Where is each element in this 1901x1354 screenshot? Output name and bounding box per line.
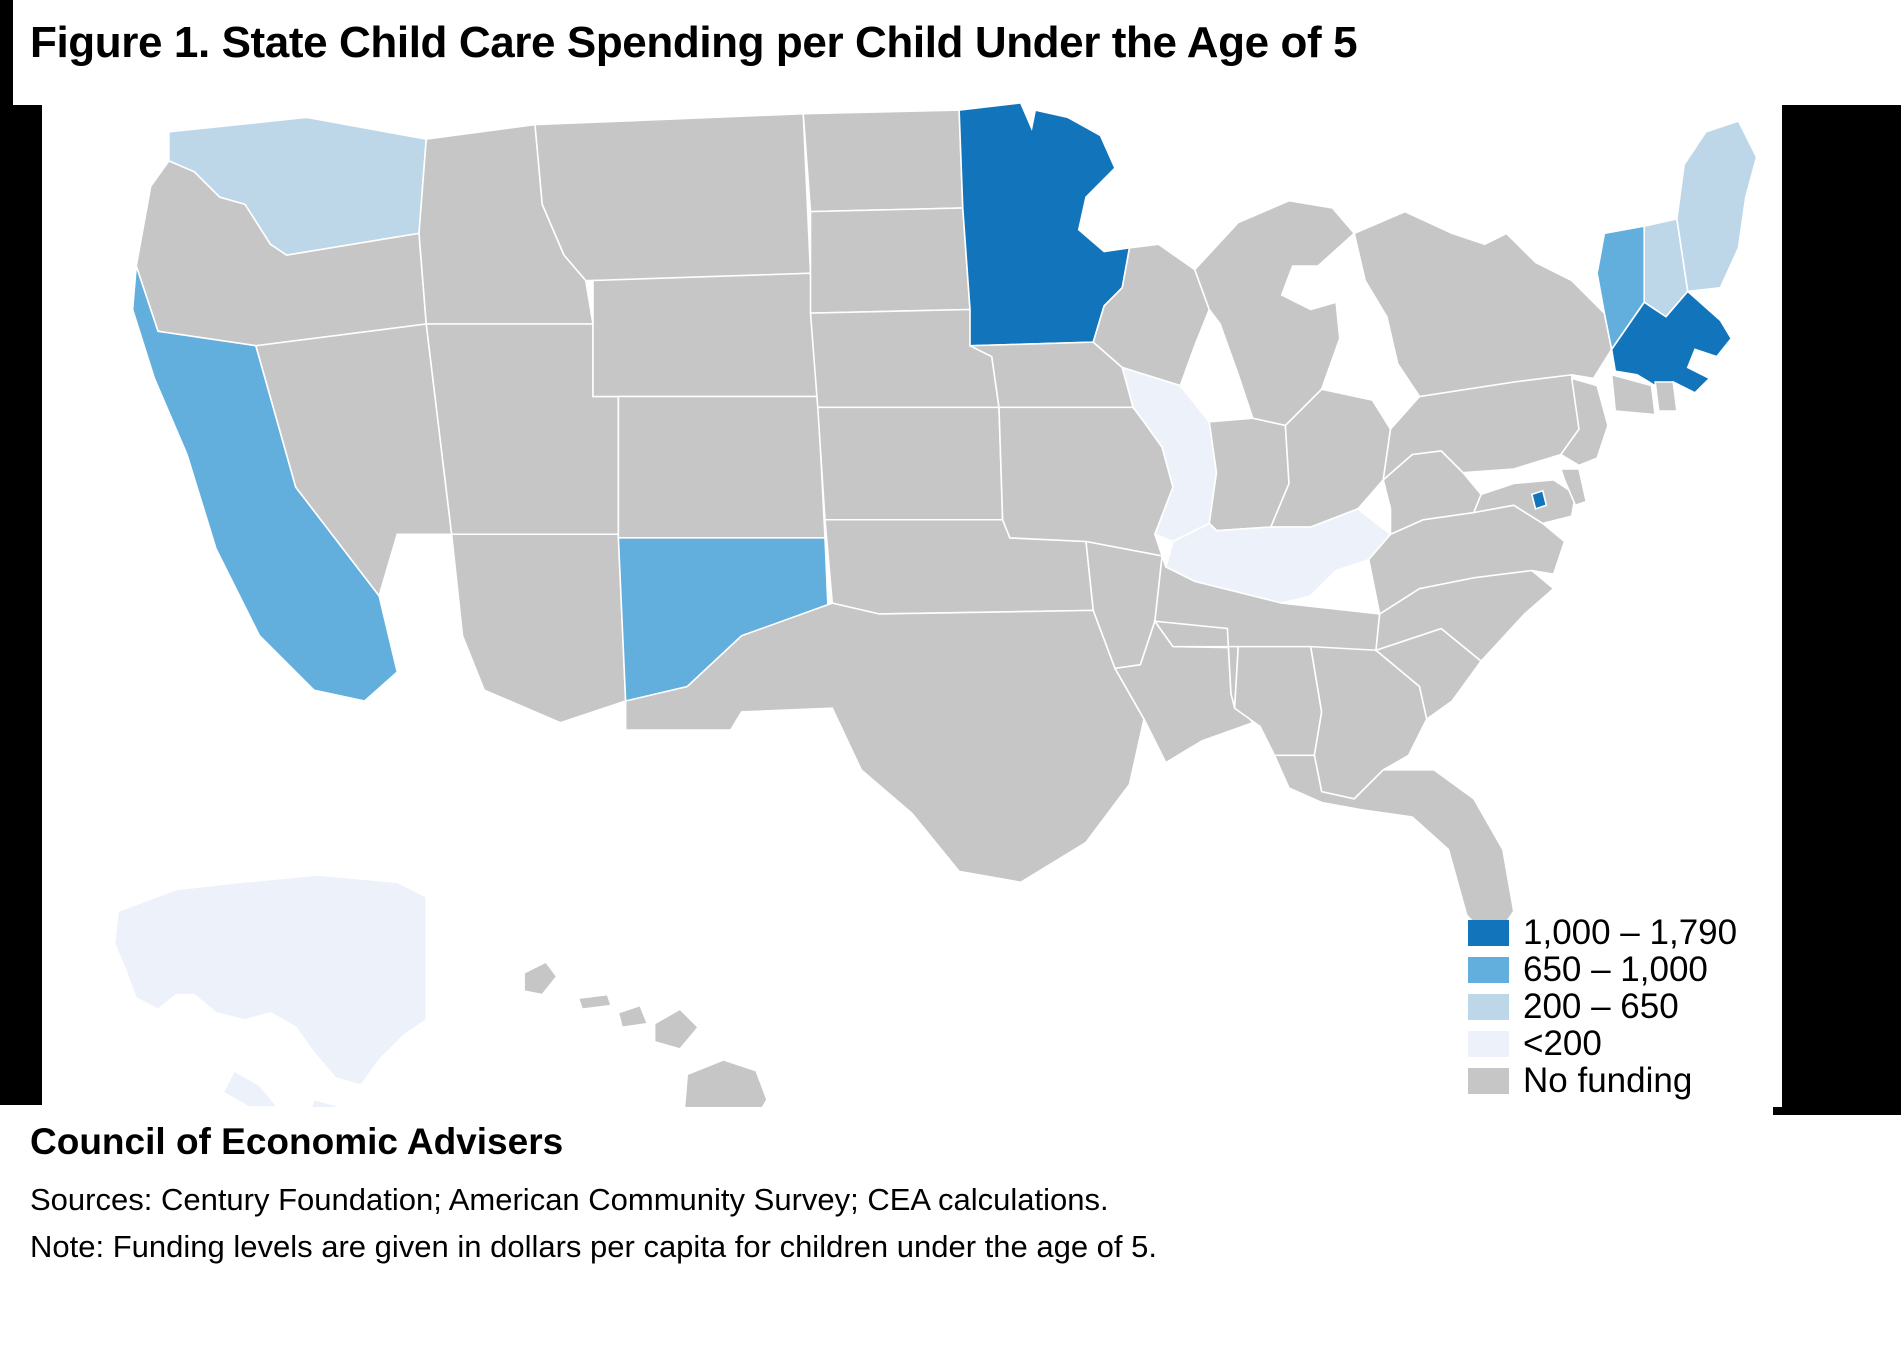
state-ME[interactable]	[1677, 121, 1757, 291]
state-NY[interactable]	[1354, 212, 1611, 397]
state-KS[interactable]	[818, 407, 1003, 519]
frame-bar-right	[1773, 105, 1901, 1115]
frame-bar-left	[0, 105, 42, 1105]
legend-item[interactable]: 650 – 1,000	[1468, 951, 1768, 988]
legend-label-tier1: 1,000 – 1,790	[1523, 915, 1737, 951]
legend-swatch-tier2	[1468, 957, 1509, 983]
legend-item[interactable]: No funding	[1468, 1062, 1768, 1099]
sources-line: Sources: Century Foundation; American Co…	[30, 1176, 1730, 1223]
map-legend: 1,000 – 1,790 650 – 1,000 200 – 650 <200…	[1468, 914, 1768, 1099]
state-SD[interactable]	[811, 208, 971, 313]
legend-swatch-tier3	[1468, 994, 1509, 1020]
state-RI[interactable]	[1655, 382, 1677, 411]
state-MO[interactable]	[999, 407, 1173, 556]
legend-swatch-nofunding	[1468, 1068, 1509, 1094]
legend-label-tier2: 650 – 1,000	[1523, 952, 1708, 988]
figure-page: Figure 1. State Child Care Spending per …	[0, 0, 1901, 1354]
frame-bar-left-top	[0, 0, 13, 105]
source-organization: Council of Economic Advisers	[30, 1118, 1730, 1166]
legend-item[interactable]: <200	[1468, 1025, 1768, 1062]
state-MT[interactable]	[535, 114, 811, 281]
state-WY[interactable]	[593, 273, 818, 396]
choropleth-map: 1,000 – 1,790 650 – 1,000 200 – 650 <200…	[42, 92, 1782, 1107]
legend-swatch-tier1	[1468, 920, 1509, 946]
legend-label-tier4: <200	[1523, 1026, 1602, 1062]
state-HI[interactable]	[524, 962, 767, 1107]
state-AZ[interactable]	[452, 534, 626, 723]
state-DC[interactable]	[1532, 491, 1547, 509]
state-AK[interactable]	[115, 875, 427, 1107]
legend-label-tier3: 200 – 650	[1523, 989, 1679, 1025]
legend-swatch-tier4	[1468, 1031, 1509, 1057]
state-CO[interactable]	[618, 397, 825, 538]
note-line: Note: Funding levels are given in dollar…	[30, 1223, 1730, 1270]
state-ND[interactable]	[803, 110, 963, 212]
state-UT[interactable]	[426, 324, 618, 534]
legend-label-nofunding: No funding	[1523, 1063, 1692, 1099]
state-AL[interactable]	[1235, 647, 1322, 756]
legend-item[interactable]: 1,000 – 1,790	[1468, 914, 1768, 951]
legend-item[interactable]: 200 – 650	[1468, 988, 1768, 1025]
figure-title: Figure 1. State Child Care Spending per …	[30, 14, 1530, 76]
figure-footer: Council of Economic Advisers Sources: Ce…	[30, 1118, 1730, 1270]
